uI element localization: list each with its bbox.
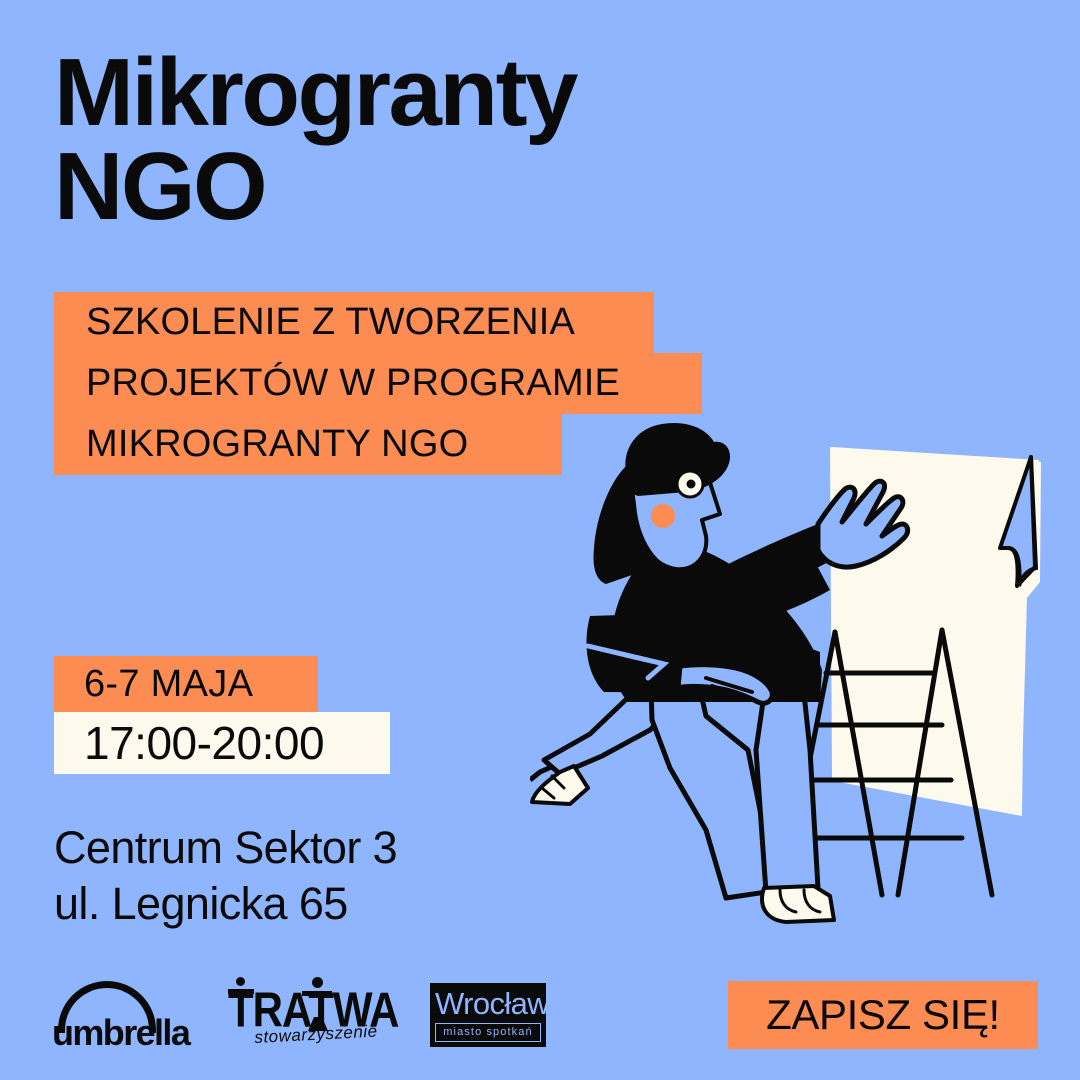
logo-wroclaw-tagline: miasto spotkań [435, 1023, 541, 1042]
event-venue: Centrum Sektor 3 ul. Legnicka 65 [54, 820, 397, 932]
woman-front-shoe-icon [762, 886, 834, 922]
event-time: 17:00-20:00 [54, 712, 390, 774]
woman-cheek-blush-icon [651, 504, 675, 528]
title-line-2: NGO [54, 140, 714, 234]
logo-wroclaw[interactable]: Wrocław miasto spotkań [430, 983, 546, 1047]
logo-umbrella-label: umbrella [52, 1015, 189, 1051]
logo-wroclaw-label: Wrocław [435, 987, 541, 1020]
illustration-woman-presenting [530, 420, 1080, 960]
illustration-svg [530, 420, 1080, 960]
subtitle-line-2: PROJEKTÓW W PROGRAMIE [54, 353, 702, 414]
signup-button-label: ZAPISZ SIĘ! [766, 994, 1000, 1036]
logo-tratwa[interactable]: TRATWA stowarzyszenie [228, 977, 378, 1053]
woman-eye-pupil-icon [687, 480, 696, 489]
partner-logo-strip: umbrella TRATWA stowarzyszenie Wrocław m… [52, 972, 546, 1058]
signup-button[interactable]: ZAPISZ SIĘ! [728, 981, 1038, 1049]
poster-canvas: Mikrogranty NGO SZKOLENIE Z TWORZENIA PR… [0, 0, 1080, 1080]
venue-line-2: ul. Legnicka 65 [54, 876, 397, 932]
subtitle-line-3: MIKROGRANTY NGO [54, 414, 562, 475]
event-date: 6-7 MAJA [54, 656, 318, 712]
venue-line-1: Centrum Sektor 3 [54, 820, 397, 876]
logo-tratwa-tagline: stowarzyszenie [254, 1023, 378, 1047]
logo-umbrella[interactable]: umbrella [52, 977, 176, 1053]
title-line-1: Mikrogranty [54, 46, 714, 140]
page-title: Mikrogranty NGO [54, 46, 714, 234]
event-schedule: 6-7 MAJA 17:00-20:00 [54, 656, 390, 774]
subtitle-line-1: SZKOLENIE Z TWORZENIA [54, 292, 654, 353]
